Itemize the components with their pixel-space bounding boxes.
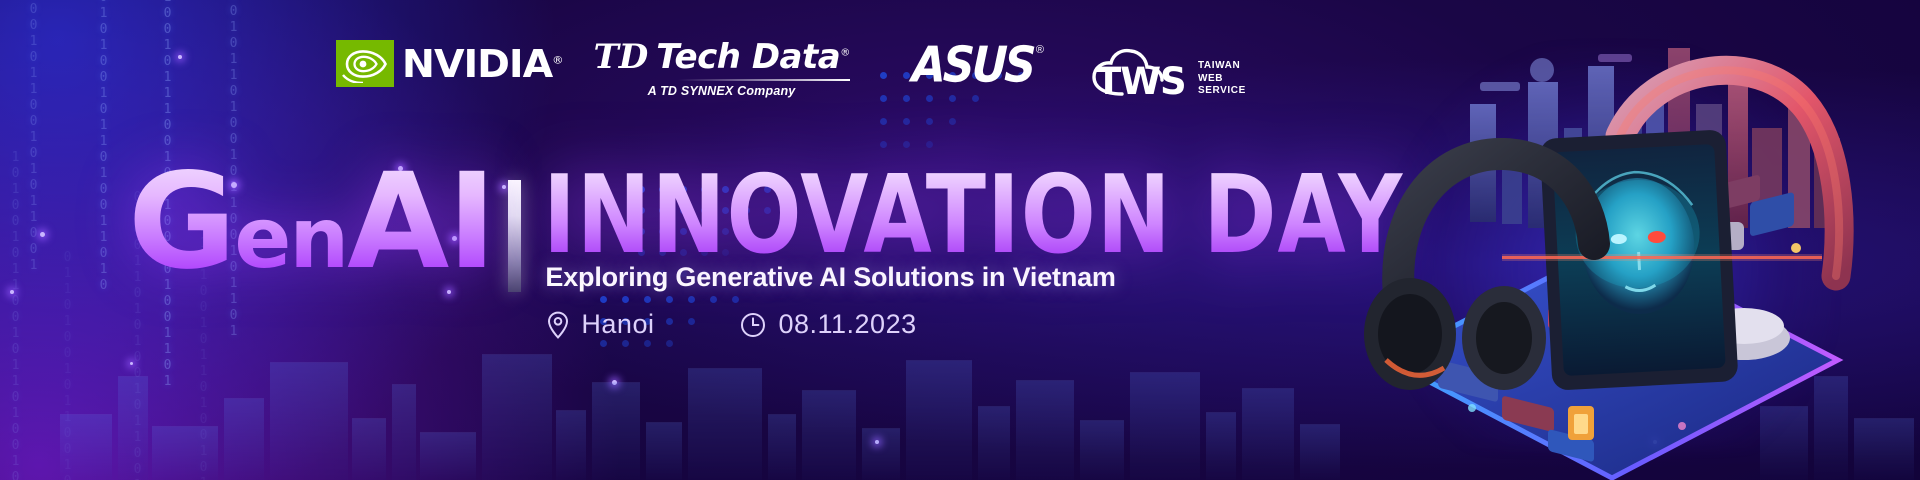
tws-wordmark: TWS [1096,63,1186,100]
tws-tagline-line-3: SERVICE [1198,85,1246,97]
logo-tws[interactable]: TWS TAIWAN WEB SERVICE [1088,40,1246,100]
logo-techdata[interactable]: TD Tech Data® A TD SYNNEX Company [593,40,849,98]
techdata-tagline: A TD SYNNEX Company [648,84,796,98]
techdata-mark: TD [593,40,648,74]
logo-asus[interactable]: ASUS ® [912,40,1044,88]
tws-tagline: TAIWAN WEB SERVICE [1198,60,1246,97]
location-pin-icon [547,311,569,339]
genai-logotype: GenAI [128,160,494,285]
techdata-trademark: ® [840,48,850,59]
event-meta-row: Hanoi 08.11.2023 [547,309,1478,340]
binary-column: 101001011001011010010 [8,150,23,480]
genai-en: en [234,189,347,287]
star-particle [178,55,182,59]
tws-tagline-line-2: WEB [1198,73,1246,85]
nvidia-eye-icon [336,40,394,87]
binary-column: 0100101100101011001 [26,0,41,274]
page-title: INNOVATION DAY [543,166,1403,265]
headline-right-block: INNOVATION DAY Exploring Generative AI S… [543,160,1478,340]
date-label: 08.11.2023 [778,309,916,340]
binary-column: 110100101001011010011010 [96,0,111,294]
nvidia-trademark: ® [552,53,562,66]
genai-ai: AI [347,145,494,299]
binary-column: 01101001011001011010 [60,250,75,480]
asus-wordmark: ASUS [911,41,1034,90]
star-particle [875,440,879,444]
techdata-wordmark: Tech Data® [656,40,849,74]
logo-nvidia[interactable]: NVIDIA® [336,40,559,87]
star-particle [612,380,617,385]
location-label: Hanoi [581,309,654,340]
asus-trademark: ® [1036,44,1044,56]
event-date: 08.11.2023 [740,309,916,340]
techdata-divider-rule [678,79,850,81]
event-location: Hanoi [547,309,654,340]
vertical-divider-bar [508,180,521,292]
tws-tagline-line-1: TAIWAN [1198,60,1246,72]
star-particle [10,290,14,294]
ai-tech-isometric-illustration [1352,8,1872,480]
headline-block: GenAI INNOVATION DAY Exploring Generativ… [128,160,1478,340]
sponsor-logo-row: NVIDIA® TD Tech Data® A TD SYNNEX Compan… [336,40,1246,100]
nvidia-wordmark: NVIDIA® [402,45,563,83]
star-particle [130,362,133,365]
star-particle [40,232,45,237]
genai-g: G [128,145,234,299]
banner-root: 0100101100101011001 11010010100101101001… [0,0,1920,480]
clock-icon [740,312,766,338]
